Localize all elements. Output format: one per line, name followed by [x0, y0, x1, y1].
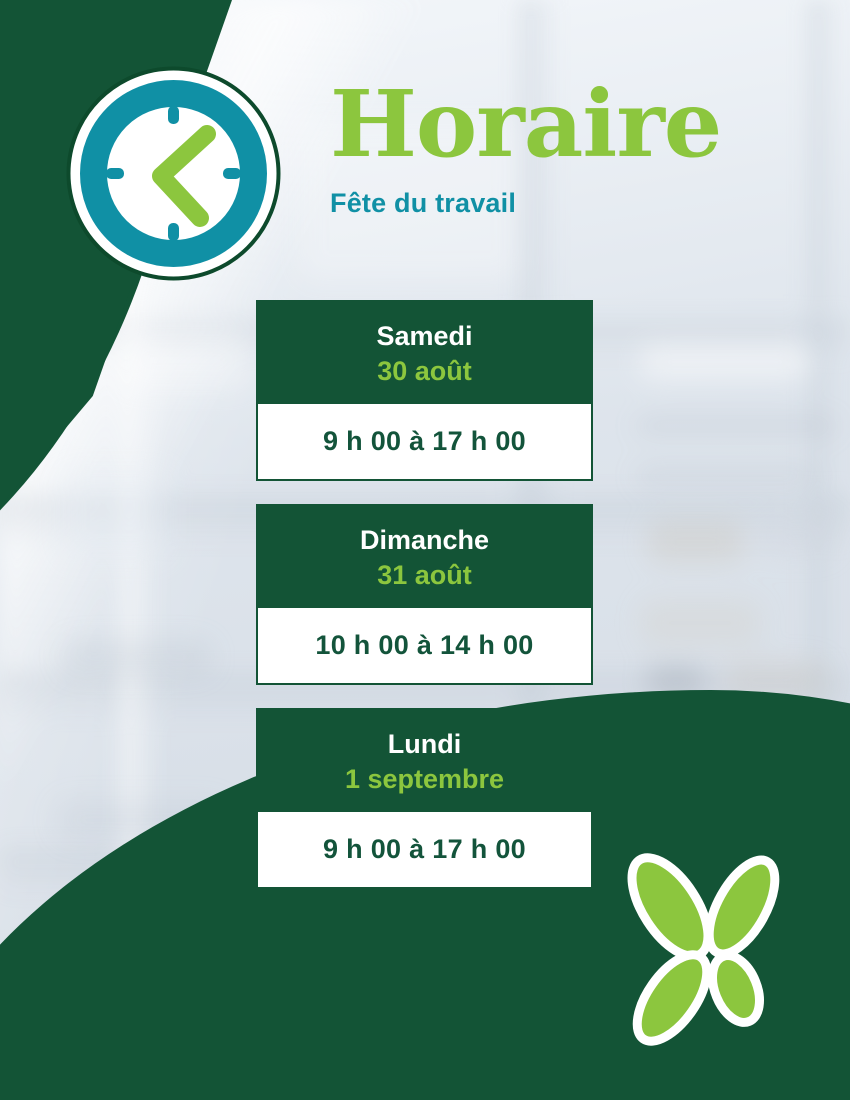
schedule-card-body: 9 h 00 à 17 h 00: [256, 812, 593, 889]
page-subtitle: Fête du travail: [330, 188, 810, 219]
schedule-hours-label: 10 h 00 à 14 h 00: [268, 630, 581, 661]
schedule-date-label: 30 août: [266, 355, 583, 388]
schedule-card-list: Samedi 30 août 9 h 00 à 17 h 00 Dimanche…: [256, 300, 593, 889]
schedule-day-label: Samedi: [266, 320, 583, 353]
schedule-card-body: 10 h 00 à 14 h 00: [256, 608, 593, 685]
schedule-card: Dimanche 31 août 10 h 00 à 14 h 00: [256, 504, 593, 685]
poster-header: Horaire Fête du travail: [330, 78, 810, 219]
schedule-card: Lundi 1 septembre 9 h 00 à 17 h 00: [256, 708, 593, 889]
schedule-day-label: Lundi: [266, 728, 583, 761]
flower-logo-icon: [614, 852, 804, 1052]
clock-icon: [66, 66, 281, 281]
schedule-card-header: Samedi 30 août: [256, 300, 593, 404]
schedule-card-header: Dimanche 31 août: [256, 504, 593, 608]
schedule-card-header: Lundi 1 septembre: [256, 708, 593, 812]
schedule-poster: Horaire Fête du travail Samedi 30 août 9…: [0, 0, 850, 1100]
schedule-card-body: 9 h 00 à 17 h 00: [256, 404, 593, 481]
schedule-card: Samedi 30 août 9 h 00 à 17 h 00: [256, 300, 593, 481]
schedule-day-label: Dimanche: [266, 524, 583, 557]
page-title: Horaire: [330, 78, 810, 172]
schedule-hours-label: 9 h 00 à 17 h 00: [268, 426, 581, 457]
schedule-date-label: 31 août: [266, 559, 583, 592]
schedule-hours-label: 9 h 00 à 17 h 00: [268, 834, 581, 865]
schedule-date-label: 1 septembre: [266, 763, 583, 796]
